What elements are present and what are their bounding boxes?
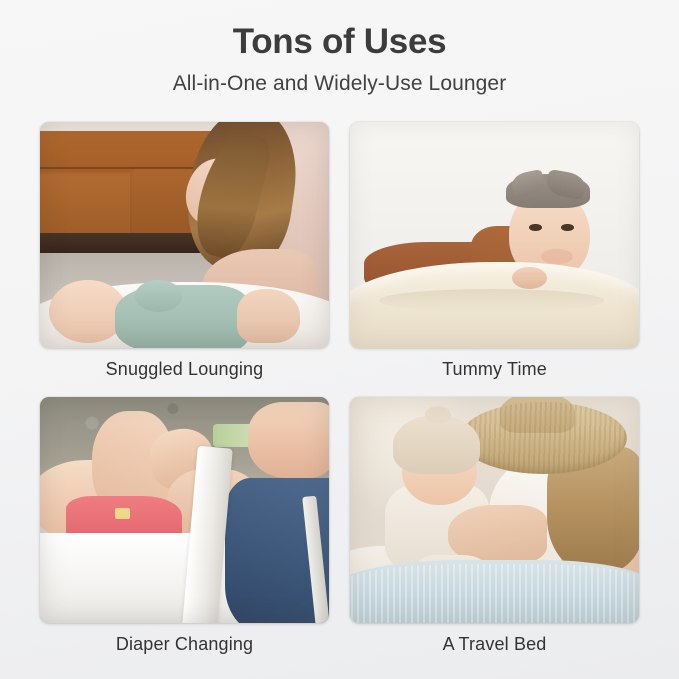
- caption-diaper-changing: Diaper Changing: [40, 623, 329, 658]
- use-case-grid: Snuggled Lounging Tummy Time: [40, 122, 639, 658]
- photo-snuggled-lounging: [40, 122, 329, 348]
- photo-diaper-changing: [40, 397, 329, 623]
- page-subtitle: All-in-One and Widely-Use Lounger: [0, 72, 679, 96]
- photo-tummy-time: [350, 122, 639, 348]
- use-case-card-a-travel-bed: A Travel Bed: [350, 397, 639, 658]
- photo-vignette: [350, 122, 639, 348]
- use-case-card-diaper-changing: Diaper Changing: [40, 397, 329, 658]
- photo-vignette: [40, 122, 329, 348]
- header: Tons of Uses All-in-One and Widely-Use L…: [0, 0, 679, 96]
- photo-a-travel-bed: [350, 397, 639, 623]
- infographic-page: Tons of Uses All-in-One and Widely-Use L…: [0, 0, 679, 679]
- photo-vignette: [350, 397, 639, 623]
- caption-snuggled-lounging: Snuggled Lounging: [40, 348, 329, 383]
- use-case-card-snuggled-lounging: Snuggled Lounging: [40, 122, 329, 383]
- caption-a-travel-bed: A Travel Bed: [350, 623, 639, 658]
- caption-tummy-time: Tummy Time: [350, 348, 639, 383]
- photo-vignette: [40, 397, 329, 623]
- page-title: Tons of Uses: [0, 22, 679, 62]
- use-case-card-tummy-time: Tummy Time: [350, 122, 639, 383]
